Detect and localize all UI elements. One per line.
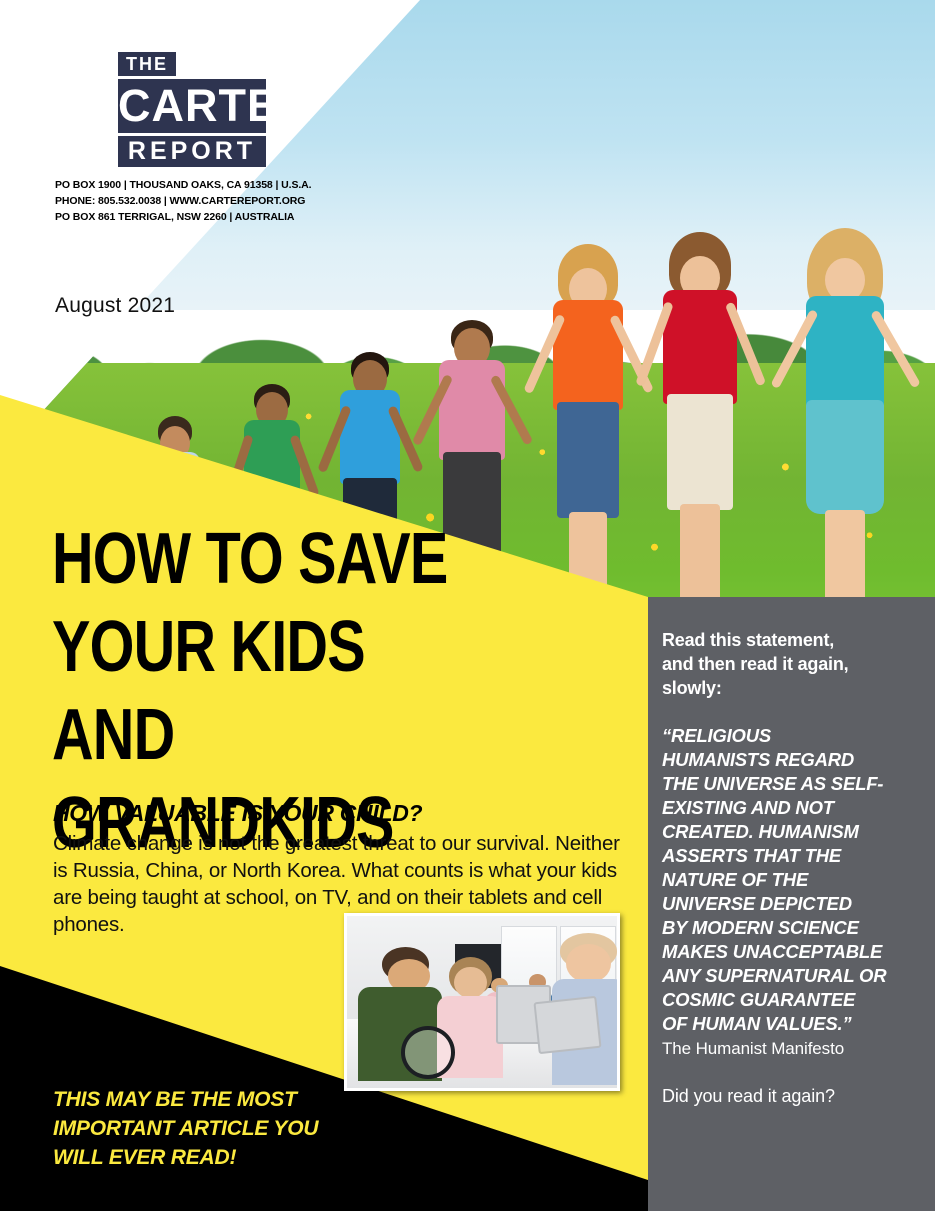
issue-date: August 2021: [55, 294, 175, 318]
child-shorts: [557, 402, 619, 518]
sidebar-lead-in: Read this statement, and then read it ag…: [662, 628, 924, 700]
classroom-tablet-right: [533, 995, 601, 1053]
address-line-postal-au: PO BOX 861 TERRIGAL, NSW 2260 | AUSTRALI…: [55, 209, 311, 225]
classroom-magnifying-glass: [401, 1026, 455, 1079]
child-head: [454, 967, 486, 998]
contact-address-block: PO BOX 1900 | THOUSAND OAKS, CA 91358 | …: [55, 177, 311, 225]
cover-callout: THIS MAY BE THE MOST IMPORTANT ARTICLE Y…: [53, 1085, 393, 1172]
logo-word-carter: CARTER: [118, 79, 266, 133]
inset-photo-classroom: [344, 913, 620, 1091]
sidebar-pull-quote: “RELIGIOUS HUMANISTS REGARD THE UNIVERSE…: [662, 724, 924, 1036]
address-line-phone-web: PHONE: 805.532.0038 | WWW.CARTEREPORT.OR…: [55, 193, 311, 209]
child-shorts: [667, 394, 733, 510]
child-head: [566, 944, 611, 983]
sidebar-closing-question: Did you read it again?: [662, 1084, 924, 1108]
newsletter-cover-page: THE CARTER REPORT PO BOX 1900 | THOUSAND…: [0, 0, 935, 1211]
carter-report-logo[interactable]: THE CARTER REPORT: [118, 52, 266, 167]
logo-word-report: REPORT: [118, 136, 266, 167]
child-shirt: [340, 390, 400, 484]
hero-child-6: [650, 230, 750, 660]
sidebar-quote-source: The Humanist Manifesto: [662, 1037, 924, 1060]
logo-word-the: THE: [118, 52, 176, 76]
cover-subhead: HOW VALUABLE IS YOUR CHILD?: [53, 800, 422, 827]
child-skirt: [806, 400, 884, 514]
address-line-postal-us: PO BOX 1900 | THOUSAND OAKS, CA 91358 | …: [55, 177, 311, 193]
